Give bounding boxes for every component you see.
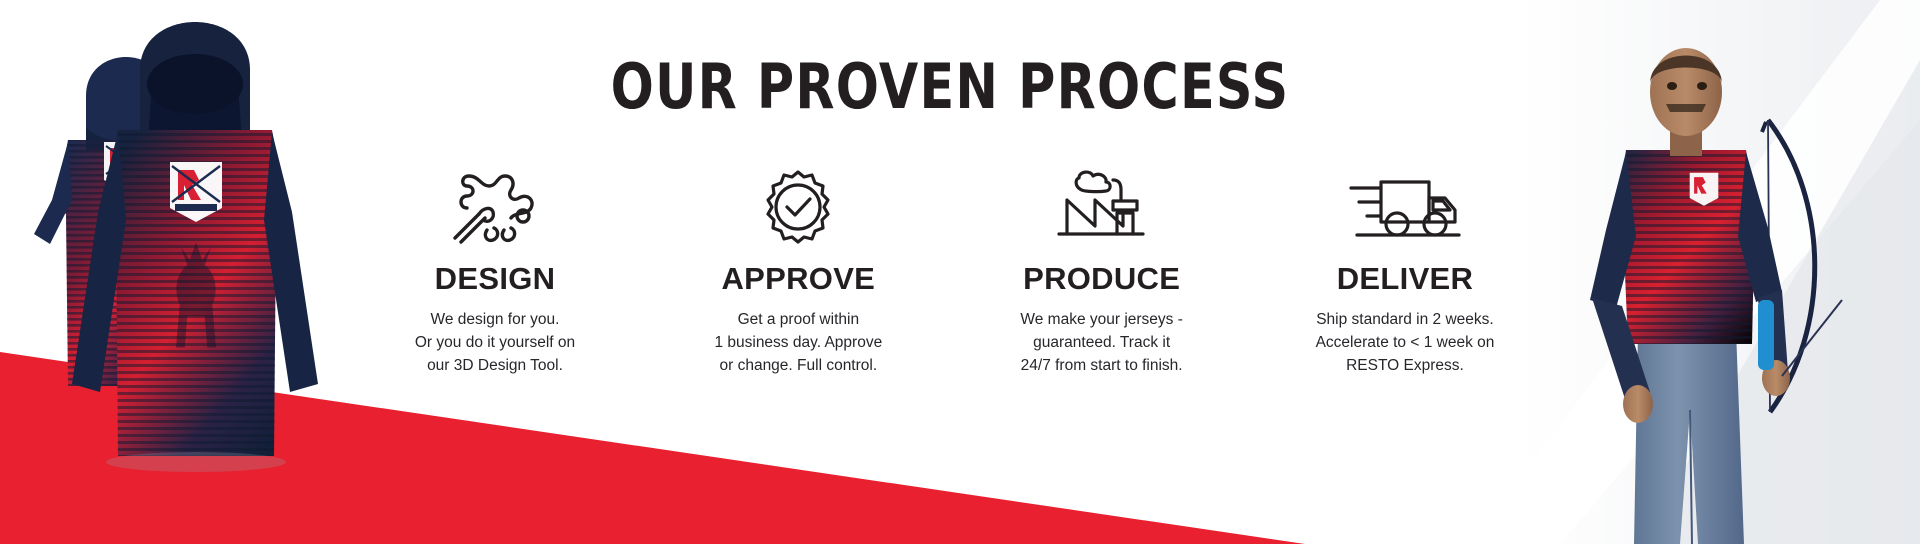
step-description-line: or change. Full control. (714, 354, 882, 377)
step-description-line: guaranteed. Track it (1020, 331, 1183, 354)
step-title: PRODUCE (1023, 262, 1180, 296)
step-description: We make your jerseys - guaranteed. Track… (1020, 308, 1183, 377)
step-description-line: We design for you. (415, 308, 575, 331)
step-description-line: RESTO Express. (1316, 354, 1495, 377)
step-description: We design for you. Or you do it yourself… (415, 308, 575, 377)
step-title: DELIVER (1337, 262, 1473, 296)
step-description: Ship standard in 2 weeks. Accelerate to … (1316, 308, 1495, 377)
step-approve: APPROVE Get a proof within 1 business da… (673, 168, 923, 377)
step-title: DESIGN (435, 262, 556, 296)
step-produce: PRODUCE We make your jerseys - guarantee… (977, 168, 1227, 377)
product-image-group (0, 0, 430, 544)
approve-badge-check-icon (758, 168, 838, 246)
our-proven-process-banner: OUR PROVEN PROCESS DESIGN (0, 0, 1920, 544)
deliver-truck-icon (1347, 168, 1463, 246)
step-description-line: Or you do it yourself on (415, 331, 575, 354)
step-title: APPROVE (721, 262, 875, 296)
page-title: OUR PROVEN PROCESS (474, 54, 1425, 120)
process-content: OUR PROVEN PROCESS DESIGN (370, 0, 1530, 544)
step-description-line: 1 business day. Approve (714, 331, 882, 354)
step-description: Get a proof within 1 business day. Appro… (714, 308, 882, 377)
step-deliver: DELIVER Ship standard in 2 weeks. Accele… (1280, 168, 1530, 377)
produce-factory-icon (1055, 168, 1149, 246)
step-description-line: Ship standard in 2 weeks. (1316, 308, 1495, 331)
step-description-line: our 3D Design Tool. (415, 354, 575, 377)
archer-model-photo (1530, 0, 1920, 544)
design-brush-icon (449, 168, 541, 246)
step-description-line: We make your jerseys - (1020, 308, 1183, 331)
step-design: DESIGN We design for you. Or you do it y… (370, 168, 620, 377)
step-description-line: Accelerate to < 1 week on (1316, 331, 1495, 354)
archer-illustration (1530, 0, 1920, 544)
process-steps-row: DESIGN We design for you. Or you do it y… (370, 168, 1530, 377)
step-description-line: 24/7 from start to finish. (1020, 354, 1183, 377)
step-description-line: Get a proof within (714, 308, 882, 331)
archery-jerseys-illustration (0, 0, 430, 544)
